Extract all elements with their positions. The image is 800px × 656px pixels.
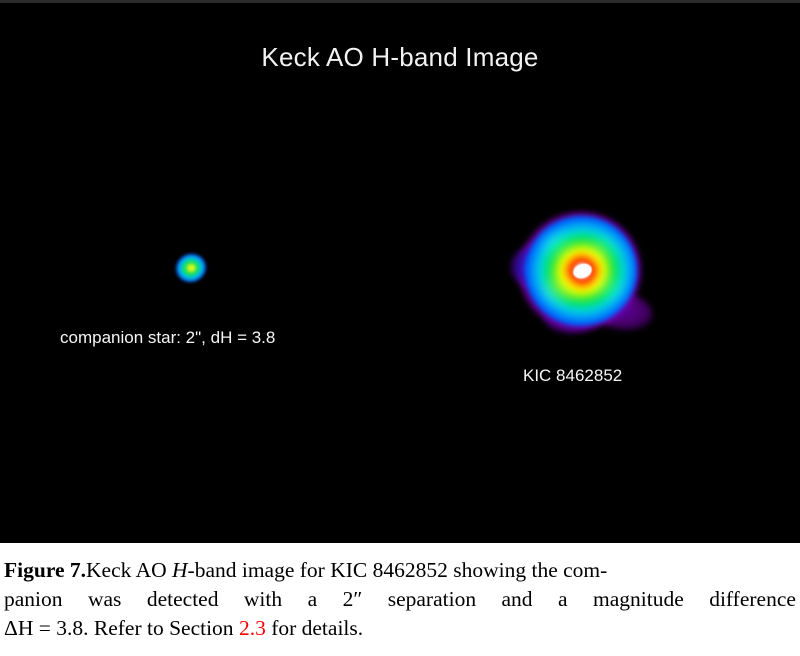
primary-star-speckle-ne — [583, 234, 619, 266]
caption-word: with — [244, 585, 282, 614]
companion-star-source — [176, 254, 206, 282]
caption-section-link[interactable]: 2.3 — [239, 616, 266, 640]
primary-star-speckle-se — [589, 270, 627, 304]
companion-star-label: companion star: 2", dH = 3.8 — [60, 328, 275, 348]
caption-line3-b: for details. — [266, 616, 363, 640]
caption-word: magnitude — [593, 585, 684, 614]
caption-band-symbol: H — [172, 558, 188, 582]
caption-figure-number: Figure 7. — [4, 558, 86, 582]
figure-caption: Figure 7.Keck AO H-band image for KIC 84… — [4, 556, 796, 643]
panel-top-edge — [0, 0, 800, 3]
primary-star-speckle-nw — [537, 228, 577, 262]
primary-star-label: KIC 8462852 — [523, 366, 622, 386]
caption-word: a — [308, 585, 318, 614]
caption-line1-a: Keck AO — [86, 558, 172, 582]
caption-line1-b: -band image for KIC 8462852 showing the … — [188, 558, 608, 582]
caption-word: was — [88, 585, 121, 614]
panel-title: Keck AO H-band Image — [0, 42, 800, 73]
caption-word: panion — [4, 585, 63, 614]
companion-star-core — [187, 264, 196, 272]
caption-line-1: Figure 7.Keck AO H-band image for KIC 84… — [4, 556, 796, 585]
figure-image-panel: Keck AO H-band Image companion star: 2",… — [0, 0, 800, 543]
caption-word: a — [558, 585, 568, 614]
caption-word: difference — [709, 585, 796, 614]
caption-line-2: panionwasdetectedwitha2″separationandama… — [4, 585, 796, 614]
primary-star-source — [515, 208, 649, 336]
caption-word: 2″ — [343, 585, 363, 614]
caption-line-3: ΔH = 3.8. Refer to Section 2.3 for detai… — [4, 614, 796, 643]
caption-word: and — [502, 585, 533, 614]
caption-line3-a: ΔH = 3.8. Refer to Section — [4, 616, 239, 640]
caption-word: separation — [388, 585, 476, 614]
caption-word: detected — [147, 585, 219, 614]
